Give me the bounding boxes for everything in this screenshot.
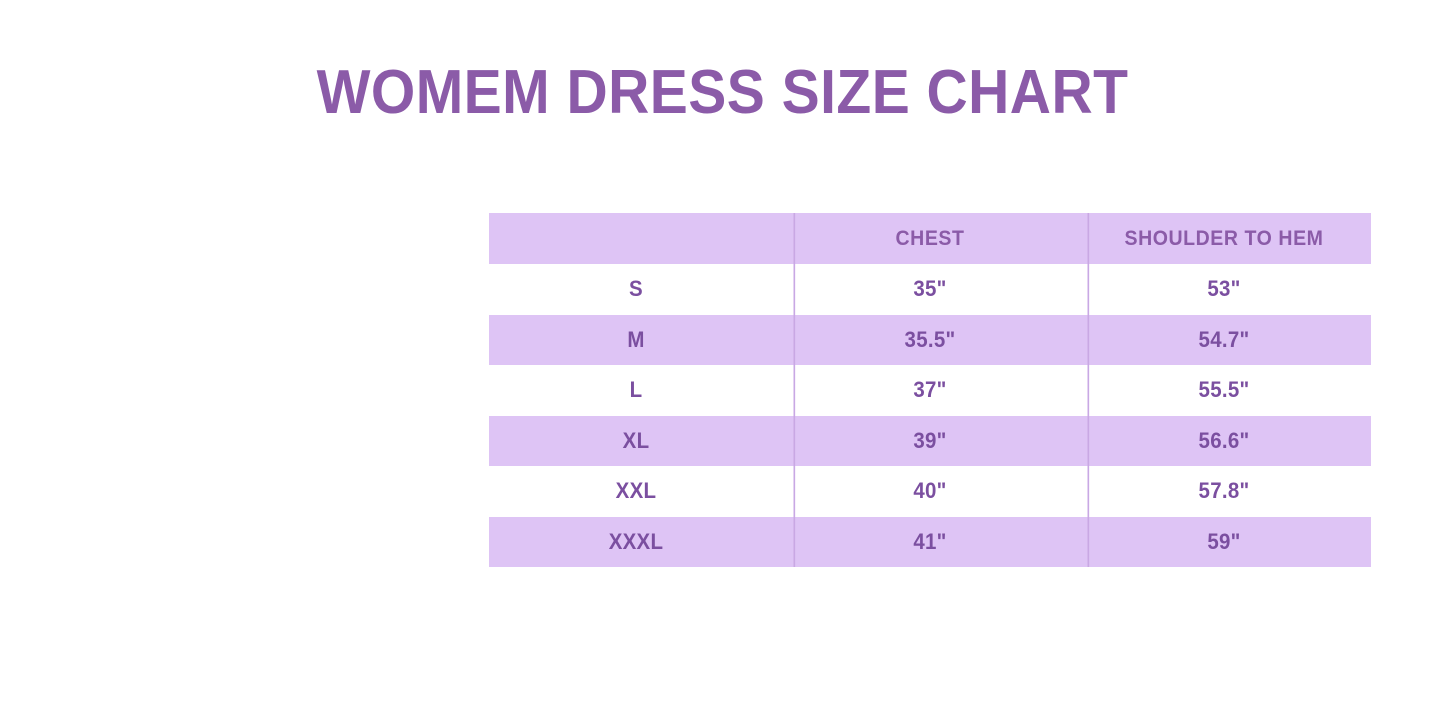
page-title: WOMEM DRESS SIZE CHART (58, 58, 1387, 128)
table-row: XXXL 41" 59" (489, 517, 1371, 568)
table-body: S 35" 53" M 35.5" 54.7" L 37" 55.5" XL 3… (489, 264, 1371, 567)
column-header-shoulder-to-hem: SHOULDER TO HEM (1087, 213, 1360, 264)
cell-shoulder-to-hem: 55.5" (1087, 365, 1360, 416)
cell-size: M (499, 315, 772, 366)
cell-chest: 40" (793, 466, 1066, 517)
cell-shoulder-to-hem: 59" (1087, 517, 1360, 568)
cell-chest: 35" (793, 264, 1066, 315)
cell-chest: 39" (793, 416, 1066, 467)
cell-chest: 35.5" (793, 315, 1066, 366)
table-header: CHEST SHOULDER TO HEM (489, 213, 1371, 264)
size-chart-table: CHEST SHOULDER TO HEM S 35" 53" M 35.5" … (489, 213, 1371, 567)
cell-size: S (499, 264, 772, 315)
cell-shoulder-to-hem: 54.7" (1087, 315, 1360, 366)
cell-chest: 41" (793, 517, 1066, 568)
cell-size: XXXL (499, 517, 772, 568)
cell-size: XXL (499, 466, 772, 517)
cell-chest: 37" (793, 365, 1066, 416)
cell-shoulder-to-hem: 57.8" (1087, 466, 1360, 517)
table-row: M 35.5" 54.7" (489, 315, 1371, 366)
table-row: XL 39" 56.6" (489, 416, 1371, 467)
table-header-row: CHEST SHOULDER TO HEM (489, 213, 1371, 264)
cell-shoulder-to-hem: 56.6" (1087, 416, 1360, 467)
table-row: XXL 40" 57.8" (489, 466, 1371, 517)
column-header-chest: CHEST (793, 213, 1066, 264)
cell-size: L (499, 365, 772, 416)
table-row: L 37" 55.5" (489, 365, 1371, 416)
cell-size: XL (499, 416, 772, 467)
cell-shoulder-to-hem: 53" (1087, 264, 1360, 315)
column-header-size (499, 213, 772, 264)
page-root: WOMEM DRESS SIZE CHART CHEST SHOULDER TO… (0, 0, 1445, 723)
table-row: S 35" 53" (489, 264, 1371, 315)
